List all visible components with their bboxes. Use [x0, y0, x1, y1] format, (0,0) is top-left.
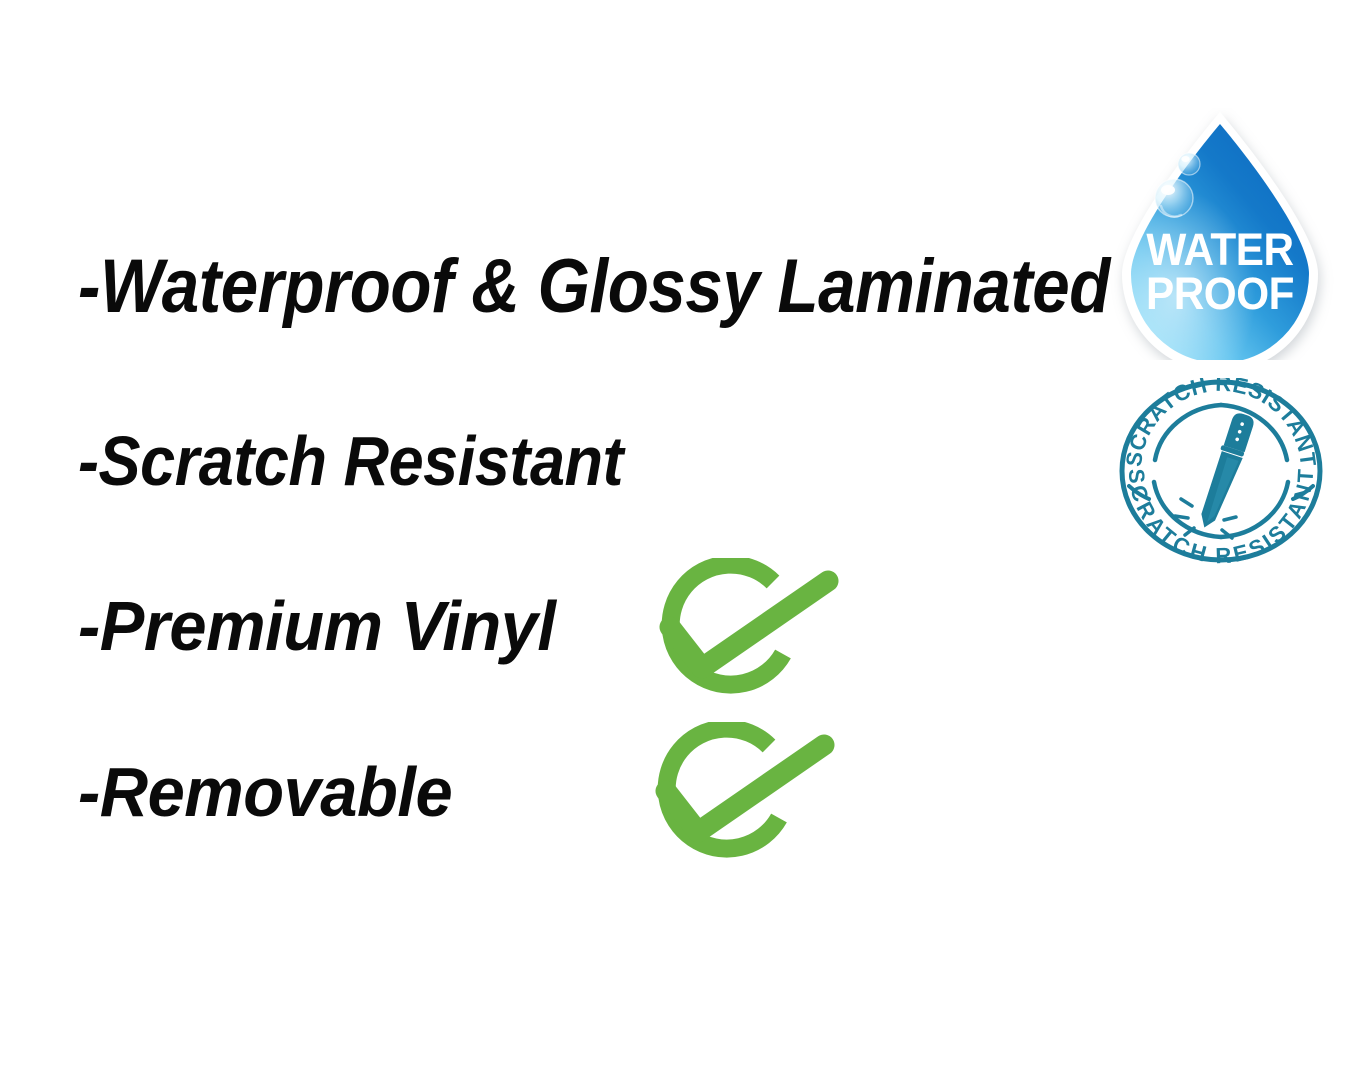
feature-label-scratch-resistant: -Scratch Resistant	[78, 423, 623, 499]
check-circle-icon	[636, 722, 836, 882]
feature-label-waterproof: -Waterproof & Glossy Laminated	[78, 246, 1110, 328]
check-circle-icon	[640, 558, 840, 718]
scratch-resistant-badge: SCRATCH RESISTANT SCRATCH RESISTANT	[1118, 378, 1324, 564]
knife-scratch-icon: SCRATCH RESISTANT SCRATCH RESISTANT	[1118, 378, 1324, 564]
knife-icon	[1196, 411, 1256, 533]
bubble-small-icon	[1178, 153, 1200, 175]
bubble-large-icon	[1155, 179, 1193, 217]
feature-item-scratch-resistant: -Scratch Resistant	[78, 423, 684, 499]
feature-item-waterproof: -Waterproof & Glossy Laminated	[78, 246, 1244, 328]
feature-label-removable: -Removable	[78, 754, 452, 830]
check-tick	[666, 745, 824, 832]
drop-sheen	[1131, 124, 1309, 360]
feature-item-premium-vinyl: -Premium Vinyl	[78, 588, 578, 664]
water-drop-icon	[1106, 108, 1334, 360]
feature-highlight-canvas: -Waterproof & Glossy Laminated -Scratch …	[0, 0, 1359, 1080]
feature-label-premium-vinyl: -Premium Vinyl	[78, 588, 556, 664]
check-tick	[670, 581, 828, 668]
feature-list: -Waterproof & Glossy Laminated -Scratch …	[0, 0, 1100, 1080]
waterproof-badge: WATER PROOF	[1106, 108, 1334, 360]
check-mark-premium-vinyl	[640, 558, 840, 718]
feature-item-removable: -Removable	[78, 754, 470, 830]
check-mark-removable	[636, 722, 836, 882]
